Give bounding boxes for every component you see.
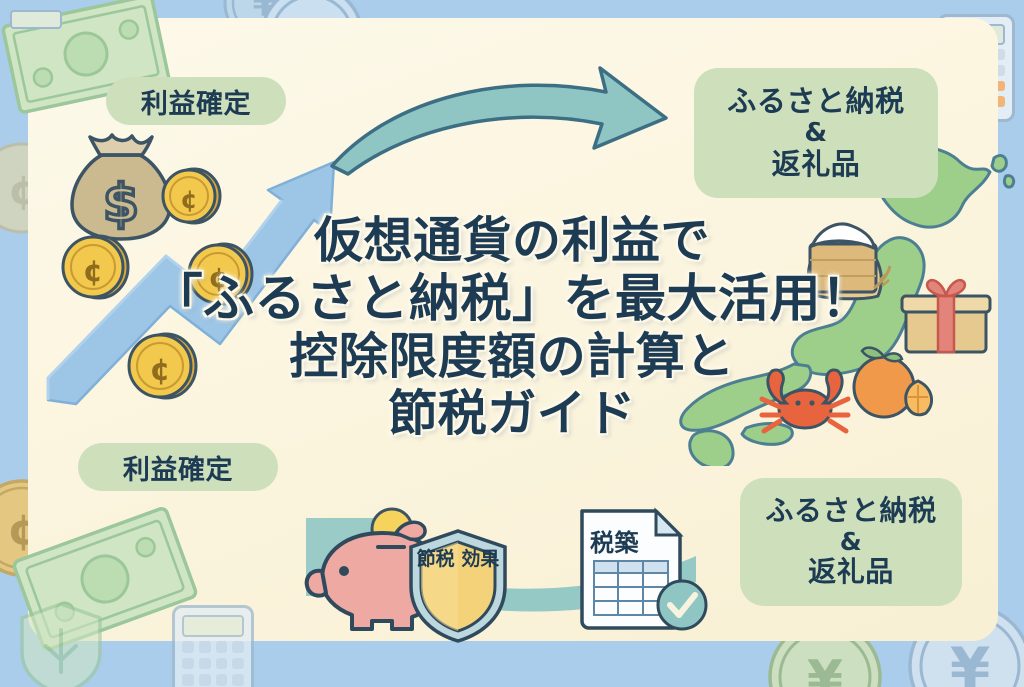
gold-coin-3: ¢ xyxy=(186,240,254,308)
thumbnail-canvas: ¥ ¥ ¢ ¢ xyxy=(0,0,1024,687)
label-profit-confirm-bottom: 利益確定 xyxy=(78,443,278,491)
curved-arrow-icon xyxy=(318,62,678,186)
svg-text:¢: ¢ xyxy=(180,185,197,214)
label-line1: ふるさと納税 xyxy=(765,495,936,527)
orange-fruit-icon xyxy=(848,345,940,425)
crab-icon xyxy=(756,363,854,439)
rice-box-icon xyxy=(796,216,892,308)
label-line1: ふるさと納税 xyxy=(727,85,904,118)
gold-coin-4: ¢ xyxy=(126,330,198,402)
tax-document-title: 税築 xyxy=(590,523,639,558)
svg-text:¢: ¢ xyxy=(83,254,103,288)
label-text: 利益確定 xyxy=(141,82,251,121)
savings-shield-icon: 節税 効果 xyxy=(404,528,512,644)
money-bag-symbol: $ xyxy=(103,174,139,234)
shield-label: 節税 効果 xyxy=(404,550,512,570)
label-profit-confirm-top: 利益確定 xyxy=(106,77,286,125)
svg-text:¢: ¢ xyxy=(208,261,227,294)
label-line3: 返礼品 xyxy=(808,556,894,588)
tax-document-icon: 税築 xyxy=(560,505,710,637)
shield-label-line1: 節税 xyxy=(417,548,455,570)
label-furusato-bottom: ふるさと納税 & 返礼品 xyxy=(740,478,962,606)
label-text: 利益確定 xyxy=(123,448,233,487)
label-line3: 返礼品 xyxy=(772,148,861,181)
label-line2: & xyxy=(804,118,827,148)
svg-text:¢: ¢ xyxy=(150,353,171,388)
gold-coin-2: ¢ xyxy=(60,232,130,302)
label-furusato-top: ふるさと納税 & 返礼品 xyxy=(694,68,938,198)
gold-coin-1: ¢ xyxy=(160,165,222,227)
shield-label-line2: 効果 xyxy=(461,548,499,570)
label-line2: & xyxy=(840,528,863,557)
